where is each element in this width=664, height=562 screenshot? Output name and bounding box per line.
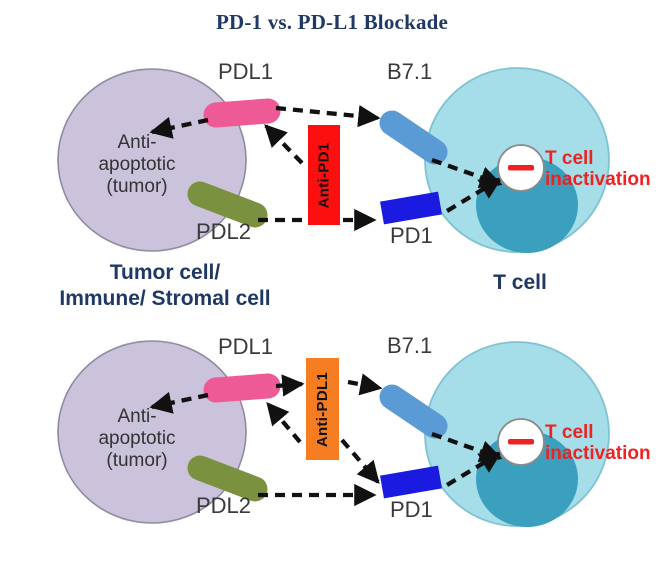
label-b71: B7.1	[387, 334, 432, 357]
t-cell-inactivation-marker	[498, 145, 544, 191]
drug-bar-anti-pdl1[interactable]: Anti-PDL1	[306, 358, 339, 460]
drug-bar-anti-pd1-label: Anti-PD1	[316, 142, 333, 208]
inactivation-line-1: T cell	[545, 148, 651, 169]
tumor-inner-line-2: apoptotic	[78, 428, 196, 450]
receptor-pdl1	[216, 111, 268, 115]
tumor-inner-line-1: Anti-	[78, 406, 196, 428]
caption-t-cell: T cell	[430, 270, 610, 296]
inactivation-line-2: inactivation	[545, 443, 651, 464]
inactivation-line-1: T cell	[545, 422, 651, 443]
receptor-b71	[392, 397, 435, 426]
caption-tumor-line-2: Immune/ Stromal cell	[0, 286, 330, 312]
caption-tumor-cell: Tumor cell/ Immune/ Stromal cell	[0, 260, 330, 313]
label-pd1: PD1	[390, 498, 433, 521]
arrow-pdl1-to-antipdl1	[276, 384, 302, 386]
label-pdl2: PDL2	[196, 494, 251, 517]
label-pdl1: PDL1	[218, 335, 273, 358]
tumor-cell-inner-label: Anti- apoptotic (tumor)	[78, 406, 196, 472]
t-cell-inactivation-label: T cell inactivation	[545, 148, 651, 191]
label-b71: B7.1	[387, 60, 432, 83]
tumor-cell-inner-label: Anti- apoptotic (tumor)	[78, 132, 196, 198]
arrow-antipdl1-to-pd1	[342, 440, 378, 482]
tumor-inner-line-2: apoptotic	[78, 154, 196, 176]
tumor-inner-line-3: (tumor)	[78, 176, 196, 198]
tumor-inner-line-1: Anti-	[78, 132, 196, 154]
caption-tumor-line-1: Tumor cell/	[0, 260, 330, 286]
panel-pdl1-blockade: Anti-PDL1 PDL1 PDL2 B7.1 PD1 Anti- apopt…	[0, 330, 664, 560]
receptor-pd1	[382, 203, 440, 213]
arrow-pdl1-to-b71	[276, 108, 378, 118]
arrow-antipdl1-to-b71	[348, 382, 380, 388]
t-cell-inactivation-label: T cell inactivation	[545, 422, 651, 465]
label-pdl1: PDL1	[218, 60, 273, 83]
t-cell-inactivation-marker	[498, 419, 544, 465]
page-title: PD-1 vs. PD-L1 Blockade	[0, 10, 664, 35]
receptor-pd1	[382, 477, 440, 487]
label-pd1: PD1	[390, 224, 433, 247]
inactivation-line-2: inactivation	[545, 169, 651, 190]
receptor-pdl1	[216, 386, 268, 390]
label-pdl2: PDL2	[196, 220, 251, 243]
panel-pd1-blockade: Anti-PD1 PDL1 PDL2 B7.1 PD1 Anti- apopto…	[0, 48, 664, 278]
receptor-b71	[392, 123, 435, 152]
tumor-inner-line-3: (tumor)	[78, 450, 196, 472]
figure-canvas: PD-1 vs. PD-L1 Blockade	[0, 0, 664, 562]
arrow-antipdl1-to-pdl1	[268, 404, 300, 442]
drug-bar-anti-pdl1-label: Anti-PDL1	[314, 371, 331, 446]
arrow-antipd1-to-pdl1	[266, 126, 302, 163]
drug-bar-anti-pd1[interactable]: Anti-PD1	[308, 125, 340, 225]
